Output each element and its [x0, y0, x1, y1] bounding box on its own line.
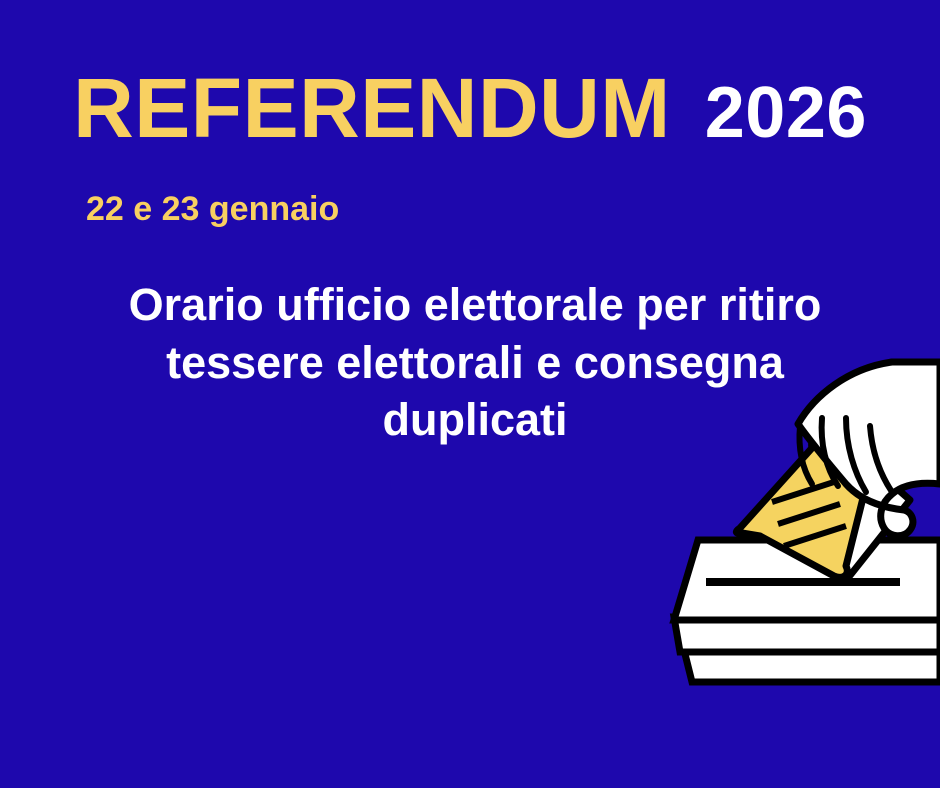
event-dates: 22 e 23 gennaio — [86, 188, 339, 231]
ballot-illustration — [648, 352, 940, 692]
headline: REFERENDUM 2026 — [0, 66, 940, 162]
ballot-illustration-svg — [648, 352, 940, 692]
headline-title: REFERENDUM — [73, 66, 671, 150]
referendum-poster: REFERENDUM 2026 22 e 23 gennaio Orario u… — [0, 0, 940, 788]
announcement-line-1: Orario ufficio elettorale per ritiro — [70, 276, 880, 334]
headline-year: 2026 — [705, 77, 867, 149]
